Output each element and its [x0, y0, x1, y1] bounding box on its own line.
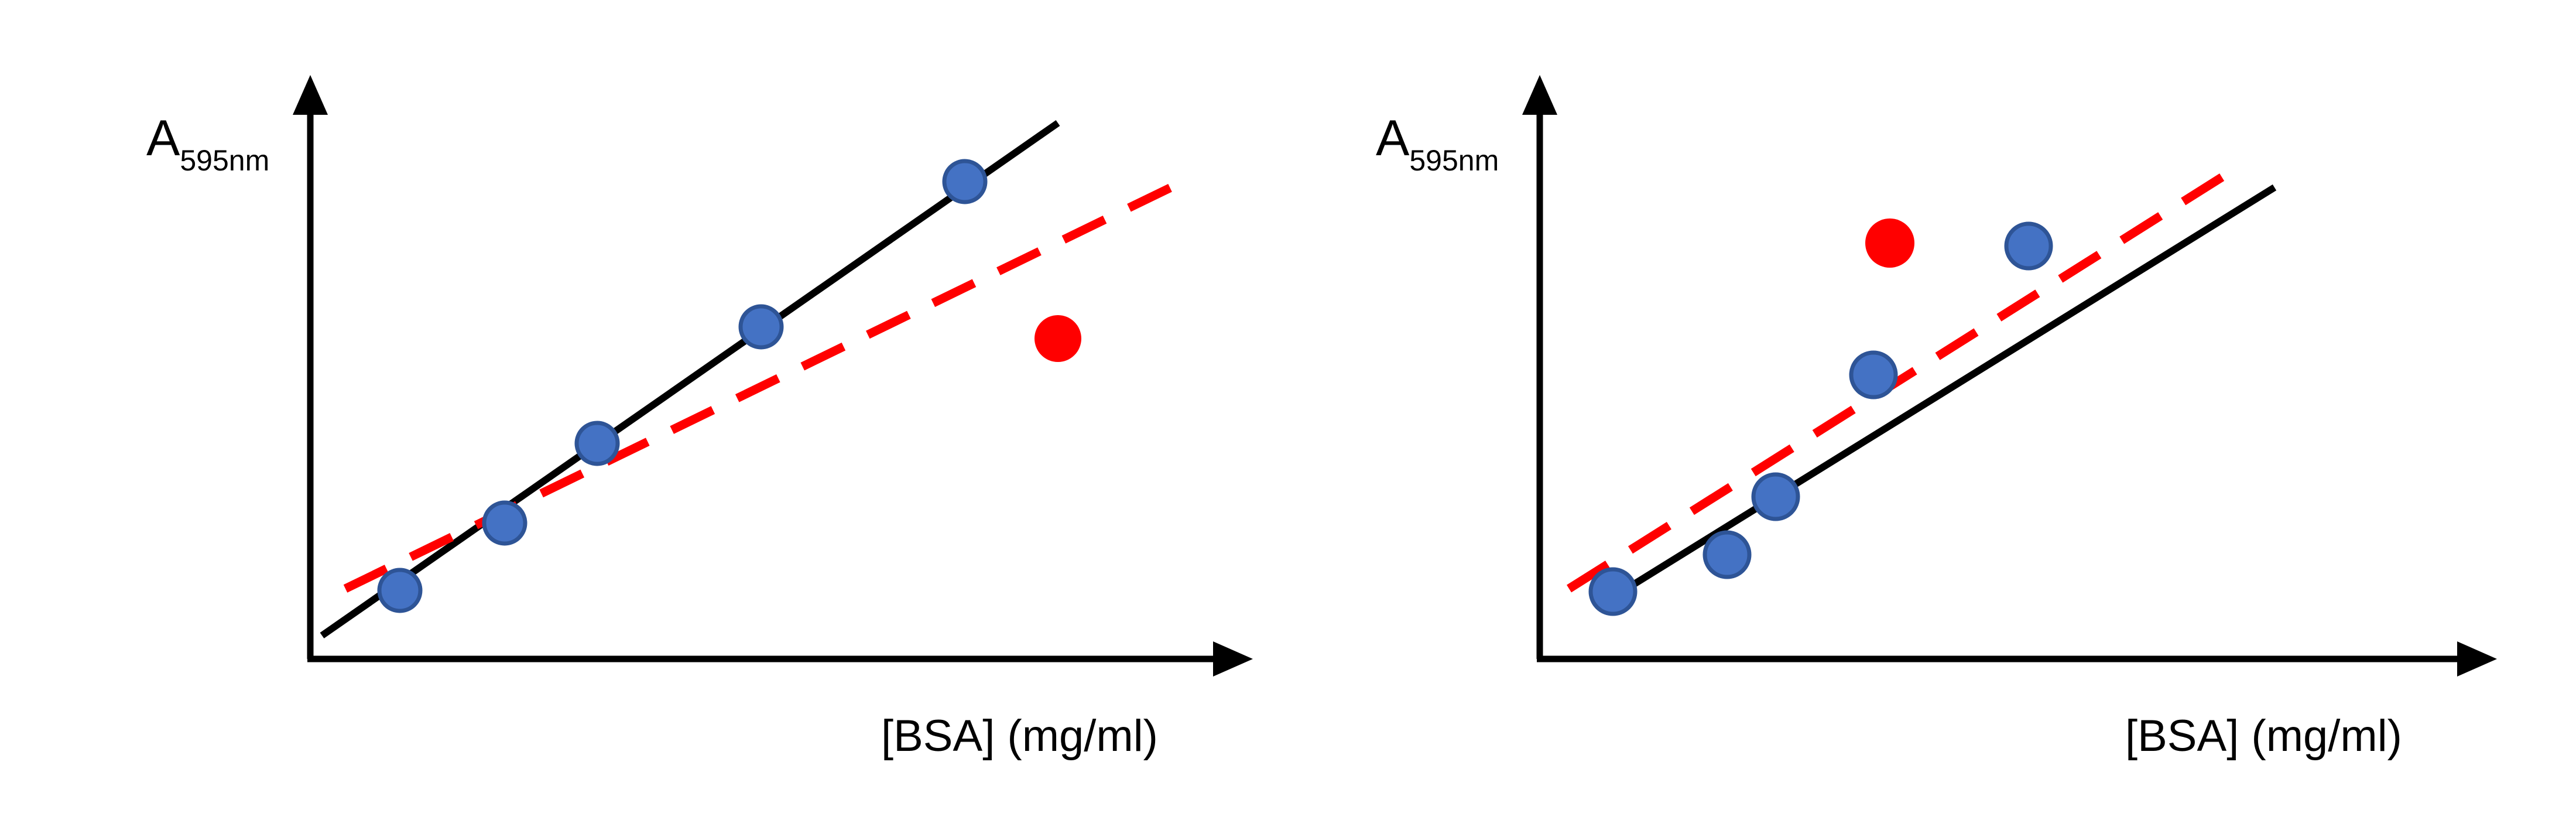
y-axis-right [1522, 75, 1557, 659]
y-axis-label-right: A595nm [1376, 110, 1499, 177]
trendline-dashed [345, 187, 1171, 589]
data-point-sample[interactable] [1034, 315, 1081, 362]
y-axis-label-subscript: 595nm [1409, 144, 1499, 177]
data-point-standard[interactable] [379, 570, 420, 611]
x-axis-arrowhead [2457, 641, 2497, 677]
data-point-standard[interactable] [2006, 224, 2051, 268]
x-axis-arrowhead [1213, 641, 1253, 677]
standard-curve-line [322, 123, 1058, 636]
chart-panel-left: A595nm [BSA] (mg/ml) [0, 0, 1288, 813]
y-axis-arrowhead [1522, 75, 1557, 115]
x-axis-label-right: [BSA] (mg/ml) [2125, 711, 2402, 761]
y-axis-label-subscript: 595nm [180, 144, 269, 177]
x-axis-label-left: [BSA] (mg/ml) [881, 711, 1158, 761]
figure-canvas: A595nm [BSA] (mg/ml) [0, 0, 2576, 813]
chart-panel-right: A595nm [BSA] (mg/ml) [1288, 0, 2576, 813]
x-axis-left [307, 641, 1253, 677]
data-point-standard[interactable] [1591, 569, 1635, 614]
y-axis-label-main: A [146, 110, 180, 166]
y-axis-label-main: A [1376, 110, 1410, 166]
data-point-sample[interactable] [1865, 218, 1914, 268]
data-point-standard[interactable] [944, 161, 985, 202]
y-axis-left [293, 75, 328, 659]
standard-curve-line [1598, 187, 2274, 606]
data-point-standard[interactable] [1851, 353, 1896, 397]
data-point-standard[interactable] [577, 423, 618, 464]
data-point-standard[interactable] [484, 503, 525, 544]
y-axis-label-left: A595nm [146, 110, 269, 177]
y-axis-arrowhead [293, 75, 328, 115]
data-point-standard[interactable] [1705, 532, 1749, 577]
data-point-standard[interactable] [1753, 474, 1798, 519]
x-axis-right [1537, 641, 2497, 677]
data-point-standard[interactable] [741, 306, 782, 347]
